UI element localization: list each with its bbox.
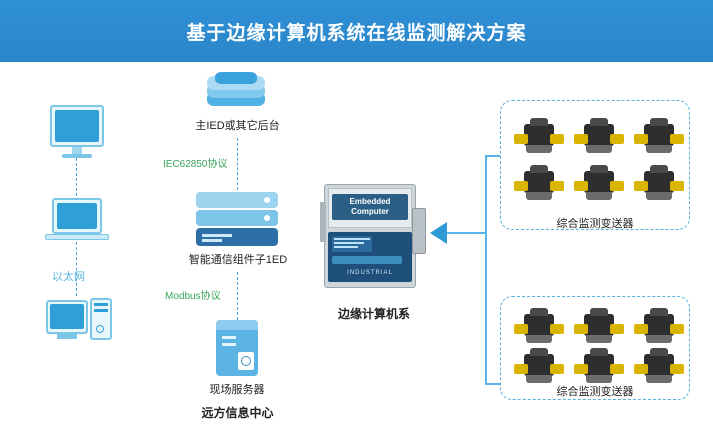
left-connector-1 <box>76 158 77 196</box>
smart-comm-icon <box>196 192 278 246</box>
device-brand-line1: Embedded <box>332 197 408 206</box>
device-brand-line2: Computer <box>332 207 408 216</box>
smart-comm-label: 智能通信组件子1ED <box>172 251 304 267</box>
sensor-icon <box>574 118 626 158</box>
sensor-icon <box>514 308 566 348</box>
sensor-icon <box>574 348 626 388</box>
modbus-protocol-label: Modbus协议 <box>165 287 221 302</box>
field-server-icon <box>216 320 258 376</box>
iec-connector <box>237 138 238 190</box>
sensor-group-top-label: 综合监测变送器 <box>545 215 645 231</box>
main-ied-label: 主IED或其它后台 <box>180 117 295 133</box>
sensor-icon <box>514 118 566 158</box>
sensor-icon <box>634 118 686 158</box>
sensor-icon <box>634 348 686 388</box>
edge-computer-label: 边缘计算机系 <box>318 305 430 322</box>
page-title: 基于边缘计算机系统在线监测解决方案 <box>0 18 713 45</box>
group-bus-line <box>485 155 487 385</box>
sensor-icon <box>514 348 566 388</box>
iec-protocol-label: IEC62850协议 <box>163 155 227 170</box>
device-brand-line3: INDUSTRIAL <box>328 270 412 276</box>
flow-arrow-icon <box>430 222 447 244</box>
arrow-trunk-line <box>447 232 485 234</box>
sensor-icon <box>634 308 686 348</box>
edge-computer-icon: Embedded Computer INDUSTRIAL <box>320 178 428 298</box>
main-ied-icon <box>205 72 269 112</box>
field-server-label: 现场服务器 <box>190 381 284 397</box>
ethernet-label: 以太网 <box>52 268 85 284</box>
sensor-icon <box>514 165 566 205</box>
remote-center-label: 远方信息中心 <box>180 404 295 421</box>
sensor-icon <box>574 308 626 348</box>
sensor-icon <box>634 165 686 205</box>
sensor-icon <box>574 165 626 205</box>
diagram-canvas: 基于边缘计算机系统在线监测解决方案 以太网 主IED或其它后台 IEC62850… <box>0 0 713 428</box>
modbus-connector <box>237 272 238 320</box>
